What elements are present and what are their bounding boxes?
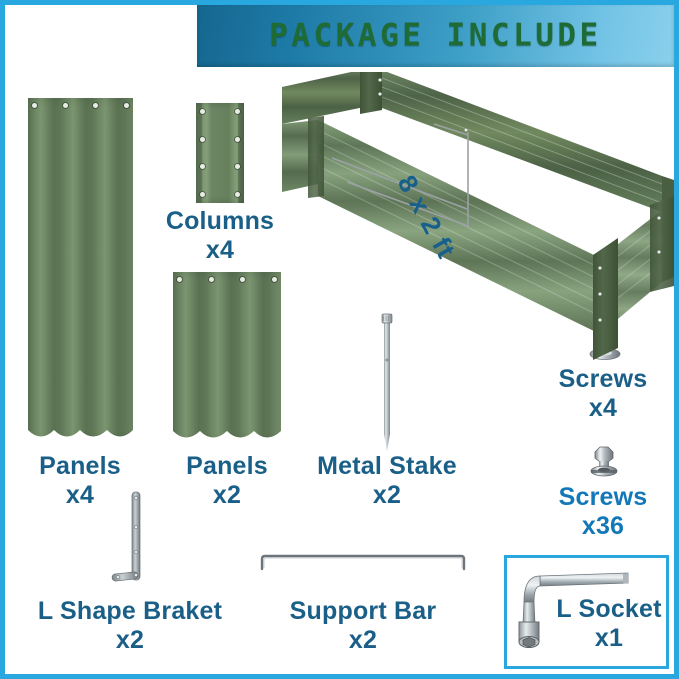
- part-image-l-shape-braket: [110, 489, 158, 599]
- corner-column-left: [308, 116, 324, 198]
- part-image-panels-large: [28, 98, 133, 441]
- package-include-infographic: PACKAGE INCLUDE Panels x4 Columns x4: [0, 0, 679, 679]
- part-image-support-bar: [259, 553, 467, 573]
- part-caption-panels-small: Panels x2: [147, 452, 307, 510]
- part-qty-panels-small: x2: [147, 481, 307, 510]
- part-caption-screws-small: Screws x36: [523, 483, 679, 541]
- garden-bed-svg: [282, 72, 674, 372]
- panel-scalloped-edge: [28, 430, 133, 442]
- part-caption-support-bar: Support Bar x2: [253, 597, 473, 655]
- part-qty-support-bar: x2: [253, 626, 473, 655]
- part-qty-l-socket: x1: [534, 624, 679, 653]
- part-qty-metal-stake: x2: [307, 481, 467, 510]
- part-label-panels-large: Panels: [39, 452, 121, 480]
- part-label-l-socket: L Socket: [556, 595, 661, 623]
- corner-column-front-right: [593, 238, 618, 360]
- part-qty-columns: x4: [140, 236, 300, 265]
- part-label-columns: Columns: [166, 207, 274, 235]
- corner-column-right: [650, 196, 674, 292]
- part-qty-screws-bolt: x4: [523, 394, 679, 423]
- part-label-metal-stake: Metal Stake: [317, 452, 457, 480]
- column-screw-holes-left: [200, 109, 205, 197]
- part-image-screws-small: [583, 443, 623, 483]
- part-caption-l-socket: L Socket x1: [534, 595, 679, 653]
- part-image-panels-small: [173, 272, 281, 442]
- part-caption-screws-bolt: Screws x4: [523, 365, 679, 423]
- part-caption-columns: Columns x4: [140, 207, 300, 265]
- package-include-banner: PACKAGE INCLUDE: [197, 5, 674, 67]
- part-image-columns: [196, 103, 244, 203]
- part-caption-l-shape-braket: L Shape Braket x2: [10, 597, 250, 655]
- part-caption-metal-stake: Metal Stake x2: [307, 452, 467, 510]
- raised-garden-bed-illustration: [282, 72, 674, 372]
- part-label-panels-small: Panels: [186, 452, 268, 480]
- page-title: PACKAGE INCLUDE: [197, 17, 674, 53]
- part-label-screws-small: Screws: [559, 483, 648, 511]
- panel-small-screw-holes-top: [177, 277, 277, 282]
- part-label-support-bar: Support Bar: [290, 597, 437, 625]
- column-screw-holes-right: [235, 109, 240, 197]
- part-qty-screws-small: x36: [523, 512, 679, 541]
- part-label-l-shape-braket: L Shape Braket: [38, 597, 222, 625]
- panel-small-scalloped-edge: [173, 431, 281, 443]
- part-qty-l-shape-braket: x2: [10, 626, 250, 655]
- panel-screw-holes-top: [32, 103, 129, 108]
